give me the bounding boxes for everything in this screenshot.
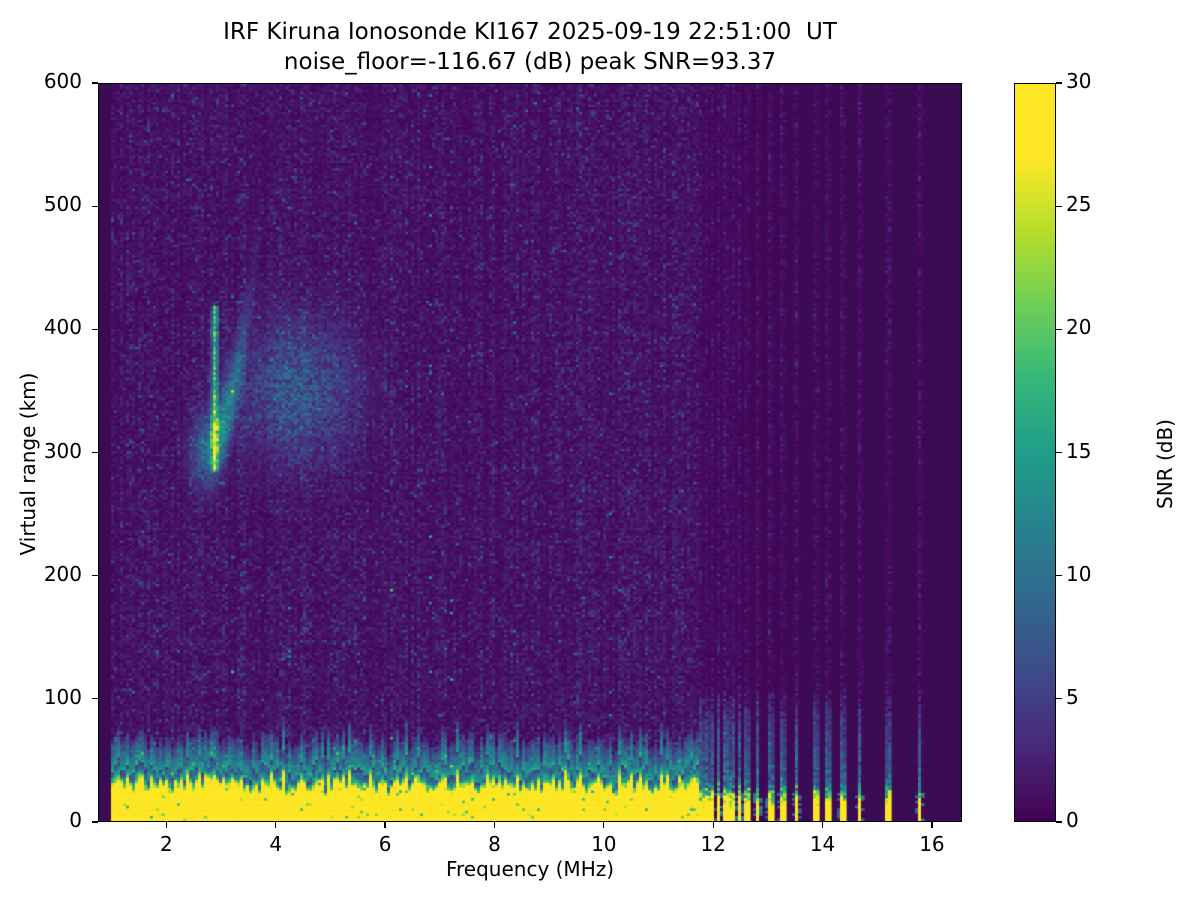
colorbar-tick-mark [1056, 82, 1062, 83]
colorbar-tick-label: 15 [1066, 439, 1091, 463]
colorbar [1014, 83, 1056, 822]
x-tick-mark [494, 822, 495, 828]
x-tick-label: 12 [683, 832, 743, 856]
colorbar-tick-label: 25 [1066, 192, 1091, 216]
y-tick-label: 500 [44, 192, 82, 216]
title-line-1: IRF Kiruna Ionosonde KI167 2025-09-19 22… [0, 18, 1060, 48]
x-axis-label: Frequency (MHz) [98, 857, 962, 881]
colorbar-tick-mark [1056, 821, 1062, 822]
colorbar-tick-label: 0 [1066, 808, 1079, 832]
ionogram-figure: IRF Kiruna Ionosonde KI167 2025-09-19 22… [0, 0, 1200, 900]
x-tick-label: 6 [355, 832, 415, 856]
x-tick-mark [166, 822, 167, 828]
colorbar-tick-label: 5 [1066, 685, 1079, 709]
colorbar-tick-mark [1056, 698, 1062, 699]
y-tick-label: 0 [69, 808, 82, 832]
y-tick-mark [92, 452, 98, 453]
y-tick-label: 600 [44, 69, 82, 93]
x-tick-label: 16 [902, 832, 962, 856]
colorbar-tick-mark [1056, 575, 1062, 576]
y-tick-label: 200 [44, 562, 82, 586]
x-tick-label: 2 [136, 832, 196, 856]
y-tick-label: 400 [44, 315, 82, 339]
y-tick-mark [92, 698, 98, 699]
y-tick-mark [92, 329, 98, 330]
y-tick-mark [92, 82, 98, 83]
colorbar-tick-label: 30 [1066, 69, 1091, 93]
x-tick-mark [384, 822, 385, 828]
chart-title: IRF Kiruna Ionosonde KI167 2025-09-19 22… [0, 18, 1060, 78]
x-tick-label: 4 [246, 832, 306, 856]
x-tick-mark [713, 822, 714, 828]
colorbar-tick-label: 20 [1066, 315, 1091, 339]
ionogram-heatmap-canvas [99, 84, 962, 822]
colorbar-label: SNR (dB) [1153, 304, 1177, 624]
x-tick-mark [931, 822, 932, 828]
heatmap-plot-area [98, 83, 962, 822]
colorbar-gradient [1015, 84, 1055, 821]
y-axis-label: Virtual range (km) [16, 304, 40, 624]
colorbar-tick-mark [1056, 329, 1062, 330]
y-tick-mark [92, 206, 98, 207]
y-tick-label: 300 [44, 439, 82, 463]
x-tick-label: 10 [574, 832, 634, 856]
y-tick-mark [92, 575, 98, 576]
x-tick-mark [822, 822, 823, 828]
x-tick-label: 14 [793, 832, 853, 856]
x-tick-mark [275, 822, 276, 828]
y-tick-mark [92, 821, 98, 822]
colorbar-tick-mark [1056, 206, 1062, 207]
colorbar-tick-label: 10 [1066, 562, 1091, 586]
x-tick-label: 8 [464, 832, 524, 856]
colorbar-tick-mark [1056, 452, 1062, 453]
x-tick-mark [603, 822, 604, 828]
title-line-2: noise_floor=-116.67 (dB) peak SNR=93.37 [0, 48, 1060, 78]
y-tick-label: 100 [44, 685, 82, 709]
